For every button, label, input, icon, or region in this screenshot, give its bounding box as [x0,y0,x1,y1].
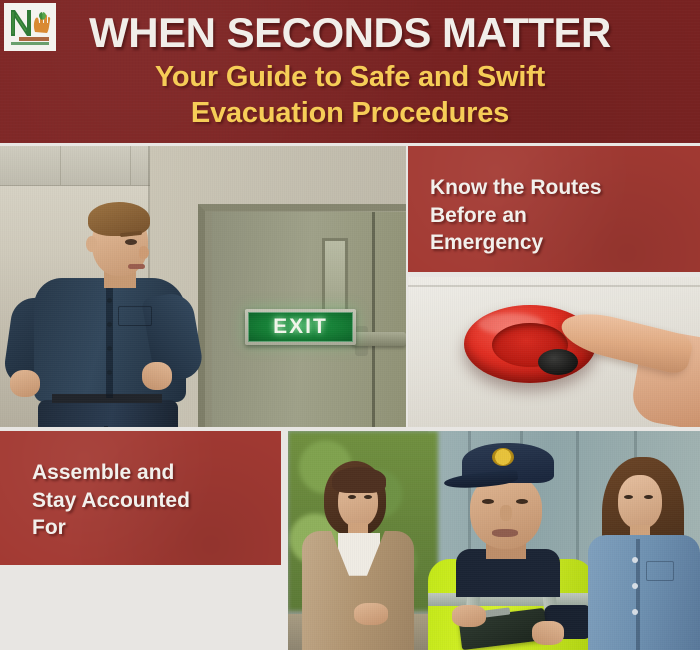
safety-officer [416,443,602,650]
subtitle-line-1: Your Guide to Safe and Swift [0,60,700,96]
man-mouth [128,264,145,269]
officer-mouth [492,529,518,537]
photo-assembly-briefing [288,431,700,650]
poster-header: WHEN SECONDS MATTER Your Guide to Safe a… [0,0,700,143]
nature-logo-mark [7,6,53,48]
panel-know-the-routes: Know the Routes Before an Emergency [408,146,700,272]
page-subtitle: Your Guide to Safe and Swift Evacuation … [0,60,700,131]
panel-routes-line-1: Know the Routes [430,174,700,202]
exit-sign-face: EXIT [248,312,353,342]
photo-emergency-button [408,277,700,427]
subtitle-line-2: Evacuation Procedures [0,96,700,132]
woman2-right-eye [644,495,653,499]
running-man-figure [0,194,200,427]
panel-assemble-line-1: Assemble and [32,459,281,487]
man-shirt-pocket [118,306,152,326]
button-black-core [538,349,578,375]
man-right-hand [142,362,172,390]
panel-routes-line-2: Before an [430,202,700,230]
wall-seam-line [408,285,700,287]
man-nose [139,246,149,259]
door-push-bar-second [382,332,406,346]
woman2-left-eye [624,495,633,499]
infographic-poster: WHEN SECONDS MATTER Your Guide to Safe a… [0,0,700,650]
cap-emblem-icon [492,448,514,466]
nature-logo [4,3,56,51]
woman2-jacket-pocket [646,561,674,581]
woman2-denim-jacket [588,535,700,650]
woman1-hair-front [332,467,386,493]
page-title: WHEN SECONDS MATTER [0,12,700,54]
officer-left-eye [482,499,494,504]
button-inner-ring [492,323,568,367]
panel-routes-line-3: Emergency [430,229,700,257]
exit-sign: EXIT [245,309,356,345]
officer-left-hand [452,605,486,627]
panel-assemble-text: Assemble and Stay Accounted For [32,459,281,542]
panel-assemble-line-3: For [32,514,281,542]
panel-assemble-line-2: Stay Accounted [32,487,281,515]
woman-denim-jacket [588,457,700,650]
panel-assemble-accounted: Assemble and Stay Accounted For [0,431,281,565]
officer-nose [500,505,512,521]
man-trousers [38,400,178,427]
officer-right-eye [516,499,528,504]
woman2-jacket-seam [636,539,640,650]
officer-right-hand [532,621,564,645]
exit-sign-label: EXIT [273,315,328,339]
man-ear [86,236,97,252]
man-left-hand [10,370,40,397]
photo-exit-running-man: EXIT [0,146,406,427]
woman1-hands [354,603,388,625]
panel-routes-text: Know the Routes Before an Emergency [430,174,700,257]
woman-beige-blazer [296,461,416,650]
man-eye [125,239,137,245]
man-leg-split [104,426,108,427]
woman2-face [618,475,662,529]
door-window [322,238,348,316]
door-split-line [372,212,375,427]
